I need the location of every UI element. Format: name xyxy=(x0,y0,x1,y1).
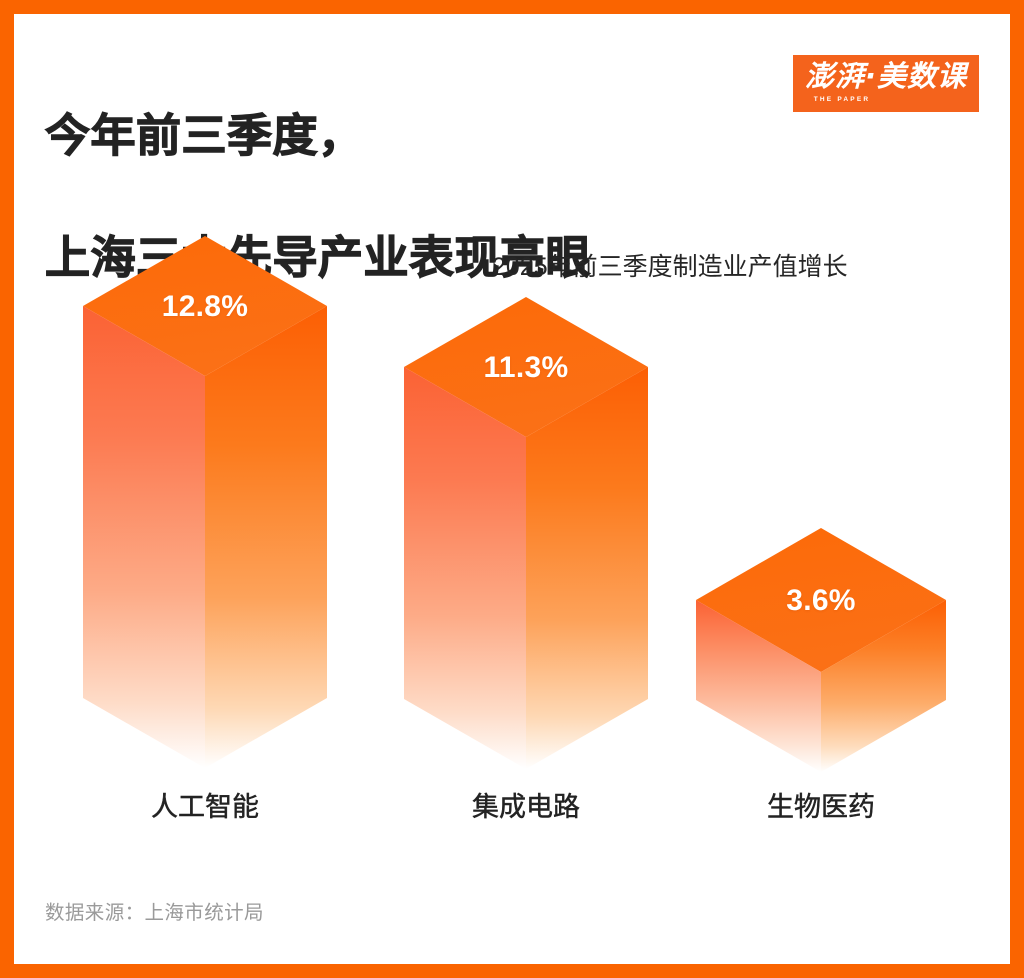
chart-subtitle: 2025年前三季度制造业产值增长 xyxy=(492,250,848,284)
category-label-ic: 集成电路 xyxy=(403,788,649,826)
bar-ai-value: 12.8% xyxy=(82,290,328,324)
bar-biopharma-shape xyxy=(695,514,947,784)
bar-biopharma-value: 3.6% xyxy=(695,584,947,618)
poster-frame: 今年前三季度， 上海三大先导产业表现亮眼 澎湃·美数课 THE PAPER 20… xyxy=(14,14,1010,964)
bar-ic-value: 11.3% xyxy=(403,351,649,385)
bar-biopharma[interactable]: 3.6% xyxy=(695,514,947,784)
bar-ic[interactable]: 11.3% xyxy=(403,283,649,783)
category-label-ai: 人工智能 xyxy=(82,788,328,826)
category-label-biopharma: 生物医药 xyxy=(695,788,947,826)
bar-ai[interactable]: 12.8% xyxy=(82,222,328,782)
data-source: 数据来源：上海市统计局 xyxy=(45,900,264,926)
bar-chart: 2025年前三季度制造业产值增长 xyxy=(14,14,1010,964)
